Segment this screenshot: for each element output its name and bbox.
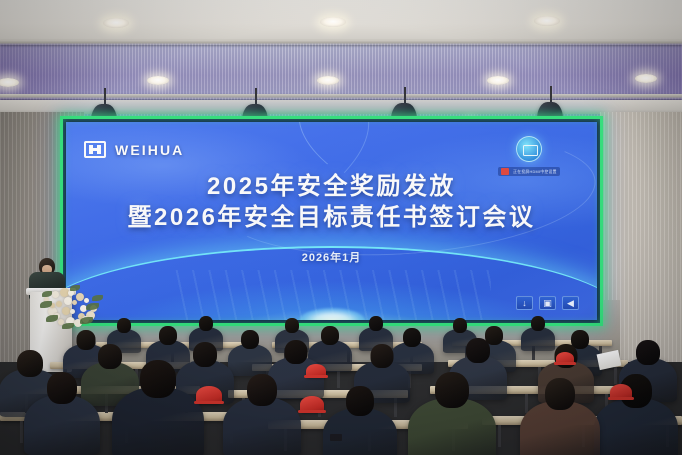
- attendee-shoulders: [24, 395, 100, 455]
- person-row1-a: [24, 372, 100, 455]
- person-row1-e: [408, 372, 496, 455]
- attendee-head: [531, 316, 545, 331]
- ceiling-beam-upper: [0, 40, 682, 45]
- ceiling-downlight-mid-0: [147, 76, 169, 85]
- red-safety-helmet: [556, 352, 574, 365]
- flower-arrangement: [40, 283, 106, 327]
- attendee-head: [159, 326, 177, 345]
- slide-brand: WEIHUA: [84, 141, 184, 158]
- attendee-head: [346, 386, 374, 416]
- attendee-head: [435, 372, 469, 408]
- attendee-head: [247, 374, 277, 406]
- attendee-head: [199, 316, 213, 331]
- person-row1-g: [594, 374, 678, 455]
- red-safety-helmet: [306, 364, 326, 378]
- flower-blossom: [52, 291, 59, 298]
- ceiling-downlight-mid-3: [635, 74, 657, 83]
- attendee-head: [285, 318, 299, 333]
- slide-date-text: 2026年1月: [66, 249, 597, 265]
- slide-title-line-2: 暨2026年安全目标责任书签订会议: [66, 203, 597, 234]
- brand-name-text: WEIHUA: [115, 142, 184, 158]
- attendee-head: [453, 318, 467, 333]
- speaker-volume-icon[interactable]: ◀: [562, 296, 579, 310]
- red-safety-helmet: [610, 384, 632, 400]
- attendee-head: [545, 378, 575, 410]
- flower-leaf: [70, 285, 80, 291]
- flower-blossom: [72, 300, 77, 305]
- red-safety-helmet: [300, 396, 324, 413]
- flower-leaf: [42, 291, 52, 297]
- ceiling-downlight-mid-2: [487, 76, 509, 85]
- flower-blossom: [64, 297, 72, 305]
- phone-on-desk: [330, 434, 342, 441]
- flower-blossom: [70, 309, 75, 314]
- attendee-head: [140, 360, 176, 398]
- flower-leaf: [86, 303, 99, 310]
- person-row1-c: [223, 374, 301, 455]
- person-row1-b: [112, 360, 204, 455]
- attendee-head: [117, 318, 131, 333]
- flower-leaf: [46, 315, 58, 322]
- ceiling-downlight-top-2: [534, 16, 560, 26]
- led-screen: WEIHUA 正在投屏HDMI中控设置 2025年安全奖励发放 暨2026年安全…: [63, 119, 600, 323]
- attendee-head: [241, 330, 259, 349]
- desk-leg: [498, 425, 501, 447]
- screen-share-icon: [516, 136, 542, 162]
- person-row1-d: [323, 386, 397, 455]
- handheld-paper: [597, 350, 622, 370]
- screen-control-bar[interactable]: ↓▣◀: [516, 296, 579, 310]
- attendee-head: [371, 344, 394, 368]
- flower-leaf: [92, 295, 103, 301]
- conference-room-photo: WEIHUA 正在投屏HDMI中控设置 2025年安全奖励发放 暨2026年安全…: [0, 0, 682, 455]
- presentation-slide: WEIHUA 正在投屏HDMI中控设置 2025年安全奖励发放 暨2026年安全…: [66, 122, 597, 320]
- weihua-crane-logo-icon: [84, 141, 106, 158]
- ceiling-downlight-mid-1: [317, 76, 339, 85]
- slide-title-block: 2025年安全奖励发放 暨2026年安全目标责任书签订会议 2026年1月: [66, 172, 597, 265]
- flower-leaf: [80, 317, 93, 324]
- slide-title-line-1: 2025年安全奖励发放: [66, 172, 597, 203]
- attendee-head: [466, 338, 490, 363]
- flower-blossom: [62, 307, 70, 315]
- attendee-head: [636, 340, 660, 365]
- flower-blossom: [84, 298, 89, 303]
- camera-icon[interactable]: ▣: [539, 296, 556, 310]
- attendee-head: [285, 340, 308, 364]
- flower-blossom: [56, 301, 62, 307]
- download-arrow-icon[interactable]: ↓: [516, 296, 533, 310]
- ceiling-beam-mid: [0, 94, 682, 99]
- ceiling-downlight-top-1: [320, 17, 346, 27]
- attendee-head: [369, 316, 383, 331]
- ceiling-downlight-top-0: [103, 18, 129, 28]
- flower-blossom: [76, 293, 84, 301]
- red-safety-helmet: [196, 386, 222, 404]
- person-row1-f: [520, 378, 600, 455]
- attendee-head: [47, 372, 77, 404]
